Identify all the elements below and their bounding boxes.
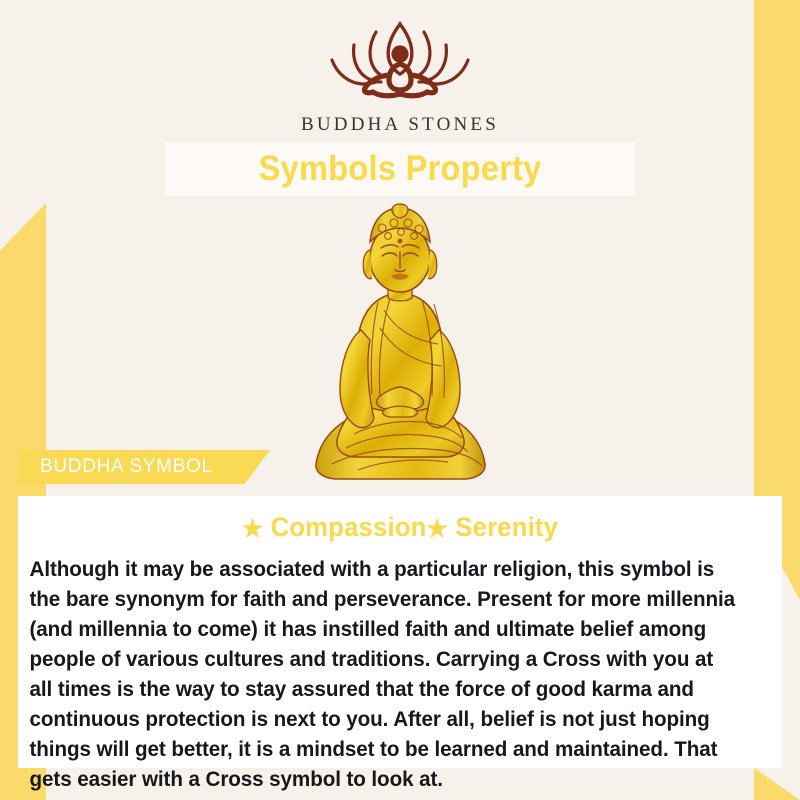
content-panel: ★ Compassion★ Serenity Although it may b…: [18, 496, 782, 768]
symbol-tag-label: BUDDHA SYMBOL: [18, 456, 213, 478]
content-paragraph: Although it may be associated with a par…: [18, 544, 751, 794]
page-title: Symbols Property: [258, 149, 541, 189]
subheading-word-compassion: Compassion: [271, 512, 427, 542]
brand-logo-block: BUDDHA STONES: [0, 18, 800, 136]
brand-wordmark: BUDDHA STONES: [0, 114, 800, 136]
content-subheading: ★ Compassion★ Serenity: [37, 496, 763, 544]
title-band: Symbols Property: [165, 142, 635, 196]
star-icon-left: ★: [242, 515, 263, 543]
lotus-meditation-icon: [305, 18, 495, 110]
star-icon-right: ★: [427, 515, 448, 543]
symbol-tag-banner: BUDDHA SYMBOL: [18, 450, 270, 484]
subheading-word-serenity: Serenity: [455, 512, 558, 542]
poster-root: BUDDHA STONES Symbols Property: [0, 0, 800, 800]
golden-seated-buddha-icon: [298, 198, 503, 498]
